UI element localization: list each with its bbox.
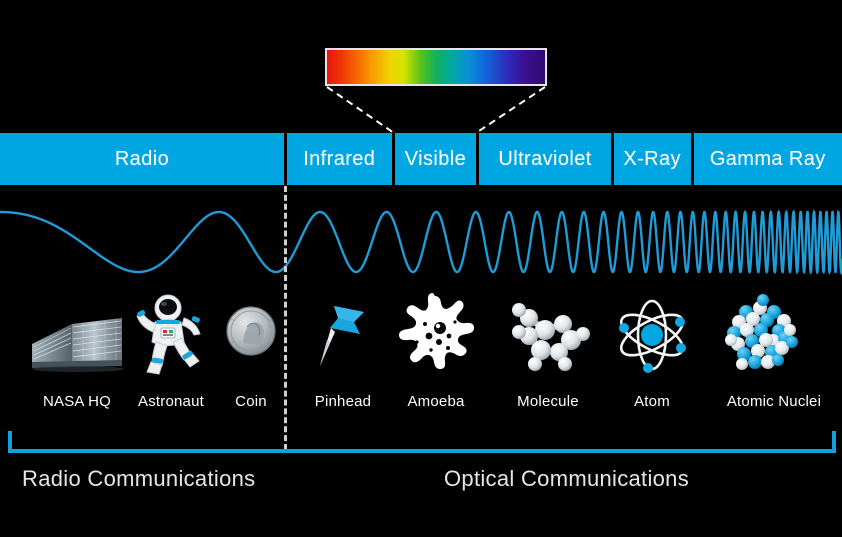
band-visible[interactable]: Visible xyxy=(395,133,477,185)
band-gamma-ray[interactable]: Gamma Ray xyxy=(694,133,842,185)
coin-icon xyxy=(225,305,277,357)
object-label-nasa-hq: NASA HQ xyxy=(25,393,129,410)
amoeba-icon xyxy=(395,292,477,374)
band-label: Ultraviolet xyxy=(498,148,591,171)
communications-bracket xyxy=(0,425,842,457)
band-label: Radio xyxy=(115,148,169,171)
spectrum-figure: Radio Infrared Visible Ultraviolet X-Ray… xyxy=(0,0,842,537)
band-label: X-Ray xyxy=(623,148,681,171)
visible-light-spectrum-box xyxy=(325,48,547,86)
band-ultraviolet[interactable]: Ultraviolet xyxy=(479,133,611,185)
band-label: Infrared xyxy=(303,148,375,171)
optical-communications-label: Optical Communications xyxy=(444,466,689,492)
molecule-icon xyxy=(505,296,591,374)
nasa-hq-building-icon xyxy=(28,300,126,372)
band-infrared[interactable]: Infrared xyxy=(287,133,392,185)
pinhead-pushpin-icon xyxy=(314,300,372,374)
band-label: Visible xyxy=(405,148,466,171)
object-label-amoeba: Amoeba xyxy=(388,393,484,410)
band-radio[interactable]: Radio xyxy=(0,133,284,185)
band-xray[interactable]: X-Ray xyxy=(614,133,691,185)
em-band-strip: Radio Infrared Visible Ultraviolet X-Ray… xyxy=(0,133,842,185)
radio-optical-divider xyxy=(284,186,287,450)
object-label-molecule: Molecule xyxy=(497,393,599,410)
object-label-pinhead: Pinhead xyxy=(296,393,390,410)
waveform xyxy=(0,196,842,288)
radio-communications-label: Radio Communications xyxy=(22,466,255,492)
callout-line-left xyxy=(327,87,394,133)
atomic-nuclei-icon xyxy=(722,294,806,378)
atom-icon xyxy=(612,296,692,374)
object-label-coin: Coin xyxy=(220,393,282,410)
object-label-atom: Atom xyxy=(608,393,696,410)
object-label-atomic-nuclei: Atomic Nuclei xyxy=(706,393,842,410)
object-label-astronaut: Astronaut xyxy=(122,393,220,410)
callout-line-right xyxy=(476,87,545,133)
band-label: Gamma Ray xyxy=(710,148,826,171)
astronaut-icon xyxy=(128,292,206,376)
